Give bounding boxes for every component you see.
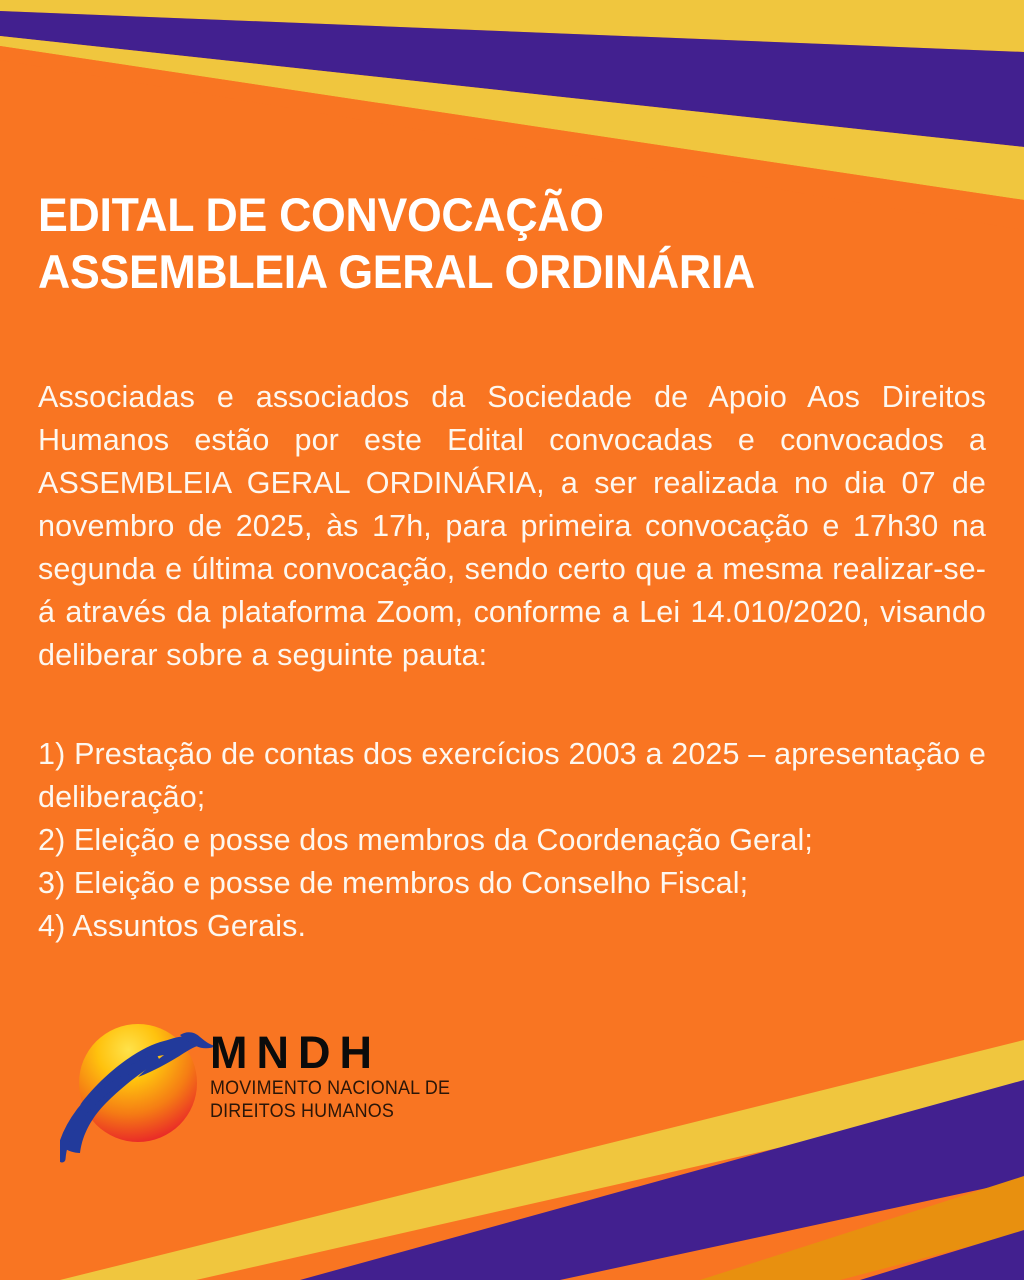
agenda-item: 1) Prestação de contas dos exercícios 20… xyxy=(38,733,986,819)
mndh-acronym: MNDH xyxy=(210,1029,480,1077)
mndh-logo-text: MNDH MOVIMENTO NACIONAL DE DIREITOS HUMA… xyxy=(210,1029,480,1123)
agenda-item: 2) Eleição e posse dos membros da Coorde… xyxy=(38,819,986,862)
page-title: EDITAL DE CONVOCAÇÃO ASSEMBLEIA GERAL OR… xyxy=(38,186,978,300)
mndh-bird-sun-icon xyxy=(60,1015,220,1165)
body-text: Associadas e associados da Sociedade de … xyxy=(38,345,986,707)
poster-canvas: EDITAL DE CONVOCAÇÃO ASSEMBLEIA GERAL OR… xyxy=(0,0,1024,1280)
agenda-item: 3) Eleição e posse de membros do Conselh… xyxy=(38,862,986,905)
mndh-subtitle-line-2: DIREITOS HUMANOS xyxy=(210,1100,458,1123)
agenda-list: 1) Prestação de contas dos exercícios 20… xyxy=(38,733,986,948)
title-line-2: ASSEMBLEIA GERAL ORDINÁRIA xyxy=(38,243,931,300)
agenda-item: 4) Assuntos Gerais. xyxy=(38,905,986,948)
title-line-1: EDITAL DE CONVOCAÇÃO xyxy=(38,186,931,243)
mndh-logo: MNDH MOVIMENTO NACIONAL DE DIREITOS HUMA… xyxy=(60,1015,480,1175)
body-paragraph: Associadas e associados da Sociedade de … xyxy=(38,376,986,677)
mndh-subtitle-line-1: MOVIMENTO NACIONAL DE xyxy=(210,1077,458,1100)
